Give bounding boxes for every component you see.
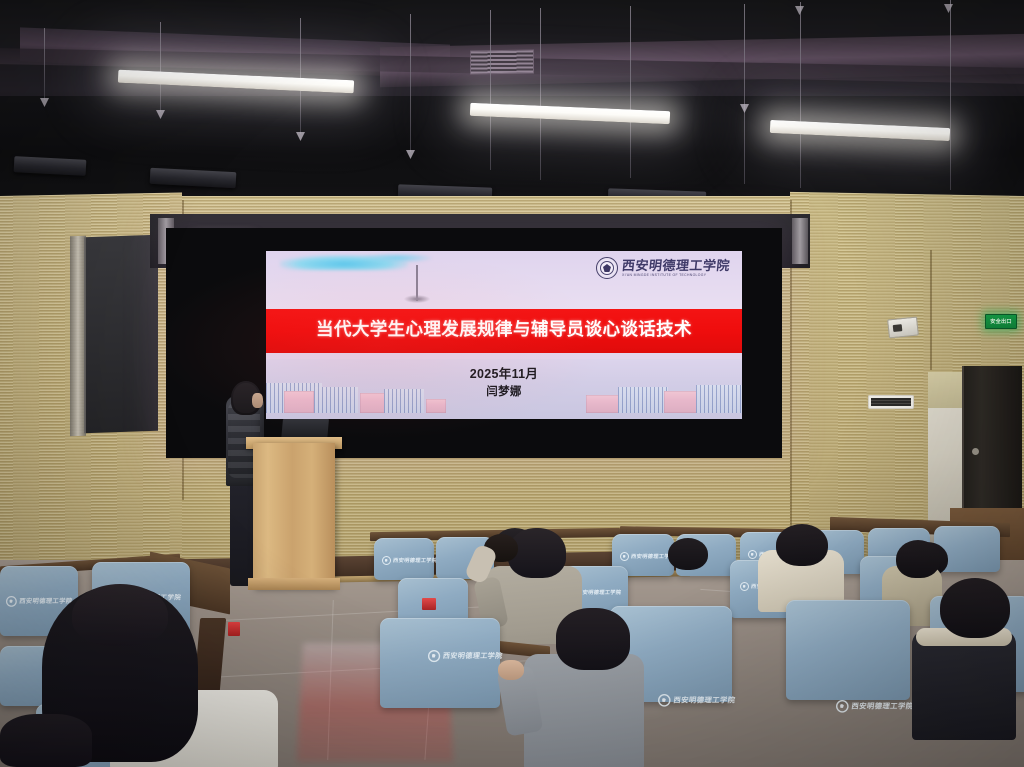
institution-name-en: XI'AN MINGDE INSTITUTE OF TECHNOLOGY [622,274,730,277]
seat[interactable] [374,538,434,580]
hanging-rod [540,8,541,180]
student-head [896,540,940,578]
wall-seam [930,250,932,370]
student-head [556,608,630,670]
wooden-lectern [253,443,335,588]
slide-date: 2025年11月 [266,363,742,382]
left-metal-pillar [70,236,86,437]
presenter-face [252,393,263,408]
hanging-rod [950,0,951,190]
hanging-rod [300,18,301,134]
seat-number-plate [422,598,436,610]
slide-author: 闫梦娜 [266,383,742,399]
student-head [940,578,1010,638]
hanging-rod [490,10,491,170]
ceiling-air-vent-icon [470,49,534,74]
air-vent-icon [868,395,914,409]
door-handle-icon[interactable] [972,448,979,455]
seat-number-plate [228,622,240,636]
student-head [668,538,708,570]
left-alcove [84,235,158,434]
lectern-base [248,578,340,590]
exit-sign: 安全出口 [985,314,1017,329]
seat[interactable] [380,618,500,708]
slide-title-band: 当代大学生心理发展规律与辅导员谈心谈话技术 [266,309,742,353]
hanging-rod [630,6,631,178]
exit-sign-label: 安全出口 [990,318,1012,325]
student-body [912,630,1016,740]
hanging-rod [800,2,801,188]
antenna-tower-icon [416,265,418,301]
slide-content: 西安明德理工学院 XI'AN MINGDE INSTITUTE OF TECHN… [266,251,742,419]
hanging-rod [744,4,745,184]
corridor-upper-panel [928,372,962,408]
lecture-hall-scene: 西安明德理工学院 XI'AN MINGDE INSTITUTE OF TECHN… [0,0,1024,767]
student-head [0,714,92,767]
student-hand [498,660,524,680]
school-seal-icon [596,257,618,279]
wall-control-panel-icon[interactable] [887,316,919,338]
student-body [524,654,644,767]
hanging-rod [410,14,411,152]
slide-institution-logo: 西安明德理工学院 XI'AN MINGDE INSTITUTE OF TECHN… [596,257,730,279]
student-head [776,524,828,566]
institution-name-cn: 西安明德理工学院 [621,259,730,272]
hanging-rod [160,22,161,112]
cloud-icon [362,253,432,263]
student-head [72,584,168,646]
slide-title: 当代大学生心理发展规律与辅导员谈心谈话技术 [316,320,692,340]
hanging-rod [44,28,45,100]
building-block [426,399,446,413]
seat[interactable] [786,600,910,700]
soffit-column [792,218,808,264]
